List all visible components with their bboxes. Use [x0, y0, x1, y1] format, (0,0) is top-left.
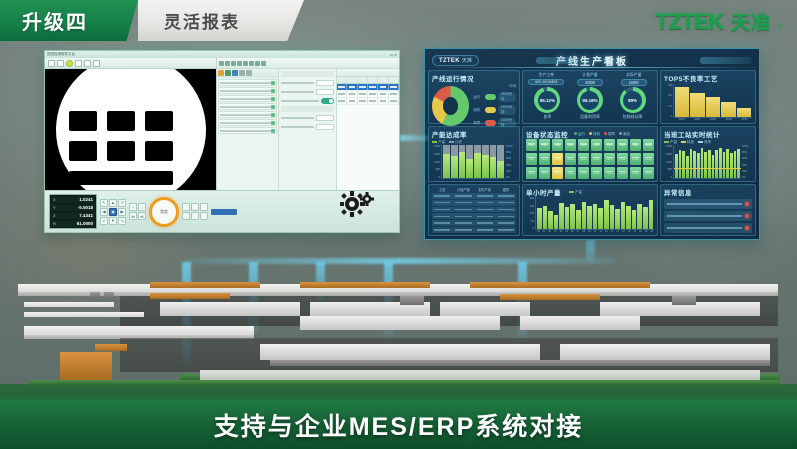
- equipment-label: OP21: [529, 173, 535, 175]
- gauge-ring: 95.18%: [577, 87, 603, 113]
- bar: [576, 210, 581, 229]
- equipment-cell[interactable]: OP24: [565, 167, 576, 179]
- equipment-label: OP23: [555, 173, 561, 175]
- data-link-beam: [400, 135, 428, 141]
- part-hole-2: [107, 111, 135, 131]
- detail-table-header: 工站 计划产量 实际产量 差异: [432, 187, 516, 192]
- alert-text-bar: [667, 203, 742, 205]
- kpi-value: 1800: [621, 79, 647, 86]
- equipment-label: OP12: [542, 159, 548, 161]
- legend-item: 离线: [619, 132, 630, 137]
- table-row[interactable]: [432, 200, 516, 206]
- equipment-label: OP17: [607, 159, 613, 161]
- bar-stack: [459, 145, 466, 178]
- y-axis: 200150100500: [526, 197, 535, 230]
- equipment-cell[interactable]: OP18: [617, 153, 628, 165]
- equipment-cell[interactable]: OP30: [643, 167, 654, 179]
- list-item[interactable]: [218, 103, 277, 110]
- x-tick: 14: [615, 230, 620, 233]
- card-title: 产线运行情况: [432, 73, 516, 83]
- legend-value: 1620分钟: [498, 105, 516, 115]
- bar-stack: [443, 145, 450, 178]
- equipment-cell[interactable]: OP21: [526, 167, 537, 179]
- jog-left-icon[interactable]: ◀: [100, 208, 108, 216]
- machine-mid-1: [300, 316, 500, 330]
- paste-tool-icon[interactable]: [232, 70, 238, 76]
- bar-stack: [497, 145, 504, 178]
- equipment-label: OP9: [633, 145, 637, 147]
- jog-down-right-icon[interactable]: ↘: [118, 217, 126, 225]
- property-field[interactable]: [281, 79, 334, 86]
- top5-plot: [673, 84, 752, 118]
- coordinate-row: R 61.0000: [51, 220, 95, 227]
- delete-icon[interactable]: [255, 61, 260, 66]
- bar: [708, 150, 711, 178]
- equipment-label: OP1: [530, 145, 534, 147]
- kpi-ring-utilization: 95.18% 设备利用率: [577, 87, 603, 120]
- feature-marker-1: [63, 103, 70, 110]
- kpi-value: 2000: [577, 79, 603, 86]
- gear-icon: [340, 190, 374, 218]
- tool-list-panel[interactable]: [217, 69, 279, 190]
- x-tick: OP30: [706, 118, 721, 121]
- dashboard-header: TZTEK 天准 产线生产看板: [428, 52, 756, 68]
- x-tick: 12: [604, 230, 609, 233]
- machine-upper-3: [440, 302, 530, 316]
- machine-upper-1: [160, 302, 300, 316]
- pan-tool-icon[interactable]: [75, 60, 82, 67]
- hourly-legend: 产量: [569, 190, 582, 195]
- legend-name: 待机: [473, 108, 483, 113]
- add-tool-icon[interactable]: [218, 70, 224, 76]
- dashboard-logo-cn: 天准: [462, 57, 472, 64]
- equipment-label: OP3: [555, 145, 559, 147]
- card-station-stats[interactable]: 当班工站实时统计 产量 标准 良率 2,000150010005000 100%…: [660, 126, 756, 182]
- equipment-cell[interactable]: OP23: [552, 167, 563, 179]
- baseline-marker: [674, 168, 741, 169]
- equipment-cell[interactable]: OP13: [552, 153, 563, 165]
- tools-pane: [217, 58, 399, 190]
- equipment-cell[interactable]: OP20: [643, 153, 654, 165]
- equipment-cell[interactable]: OP25: [578, 167, 589, 179]
- card-hourly-output[interactable]: 单小时产量 产量 200150100500 000102030405060708…: [522, 184, 658, 236]
- office-unit-1: [90, 292, 100, 298]
- property-field[interactable]: [281, 123, 334, 130]
- bar: [565, 207, 570, 229]
- image-toolbar[interactable]: [45, 58, 216, 69]
- column-header: 计划产量: [453, 187, 473, 192]
- jog-pad[interactable]: ↖ ▲ ↗ ◀ ◉ ▶ ↙ ▼ ↘: [100, 199, 126, 225]
- bar: [693, 151, 696, 178]
- alert-text-bar: [667, 215, 742, 217]
- hourly-plot: [535, 197, 654, 230]
- bar: [675, 87, 689, 117]
- equipment-cell[interactable]: OP29: [630, 167, 641, 179]
- jog-home-icon[interactable]: ◉: [109, 208, 117, 216]
- part-hole-5: [107, 141, 135, 161]
- run-icon[interactable]: [237, 61, 242, 66]
- coordinate-row: Z 7.4341: [51, 212, 95, 219]
- tools-main: [217, 69, 399, 190]
- equipment-cell[interactable]: OP19: [630, 153, 641, 165]
- control-panel-upper: [400, 296, 424, 305]
- bar: [548, 211, 553, 229]
- preset-pad[interactable]: [182, 203, 208, 220]
- equipment-cell[interactable]: OP22: [539, 167, 550, 179]
- results-toolbar[interactable]: [337, 69, 399, 77]
- list-item[interactable]: [664, 211, 752, 221]
- feature-marker-3: [173, 103, 180, 110]
- equipment-cell[interactable]: OP3: [552, 139, 563, 151]
- table-row[interactable]: [337, 84, 399, 91]
- preset-3-icon[interactable]: [200, 203, 208, 211]
- equipment-label: OP19: [633, 159, 639, 161]
- column-header: [347, 77, 357, 83]
- z-up-icon[interactable]: ↑: [129, 203, 137, 211]
- equipment-label: OP8: [620, 145, 624, 147]
- up-icon[interactable]: [239, 70, 245, 76]
- copy-tool-icon[interactable]: [225, 70, 231, 76]
- dashboard-row-1: 产线运行情况 运行中 时间 运行 1820分钟 待机: [428, 70, 756, 124]
- bar: [643, 207, 648, 229]
- office-slab-2: [24, 302, 114, 307]
- bar: [593, 204, 598, 229]
- column-header: [337, 77, 347, 83]
- table-row[interactable]: [432, 207, 516, 213]
- card-title: 产能达成率: [432, 129, 516, 139]
- crate-row-top-5: [500, 294, 600, 300]
- x-tick: 19: [644, 230, 649, 233]
- bar: [706, 97, 720, 117]
- z-down-icon[interactable]: ↓: [138, 203, 146, 211]
- x-tick: 11: [598, 230, 603, 233]
- axis-label: X: [53, 197, 61, 202]
- x-tick: 07: [576, 230, 581, 233]
- speed-slow-icon[interactable]: ≪: [138, 212, 146, 220]
- conveyor-mid: [270, 360, 770, 366]
- tool-list-rows: [217, 78, 278, 190]
- tool-properties-panel[interactable]: [279, 69, 337, 190]
- bar: [604, 200, 609, 229]
- equipment-cell[interactable]: OP8: [617, 139, 628, 151]
- axis-value: 7.4341: [61, 213, 93, 218]
- card-title: 单小时产量: [526, 187, 561, 197]
- equipment-cell[interactable]: OP1: [526, 139, 537, 151]
- equipment-cell[interactable]: OP2: [539, 139, 550, 151]
- card-detail-table[interactable]: 工站 计划产量 实际产量 差异: [428, 184, 520, 236]
- detail-table-rows: [432, 193, 516, 233]
- production-dashboard[interactable]: TZTEK 天准 产线生产看板 产线运行情况 运行中 时间 运行: [424, 48, 760, 240]
- x-tick: 03: [553, 230, 558, 233]
- equipment-label: OP6: [594, 145, 598, 147]
- x-tick: 05: [564, 230, 569, 233]
- bar: [632, 210, 637, 229]
- equipment-cell[interactable]: OP5: [578, 139, 589, 151]
- column-header: 差异: [496, 187, 516, 192]
- zoom-out-icon[interactable]: [57, 60, 64, 67]
- column-header: 工站: [432, 187, 452, 192]
- gauge-value: 95.18%: [582, 98, 597, 103]
- jog-up-icon[interactable]: ▲: [109, 199, 117, 207]
- crosshair-icon[interactable]: [93, 60, 100, 67]
- dashboard-row-3: 工站 计划产量 实际产量 差异 单小时产量: [428, 184, 756, 236]
- bar: [637, 204, 642, 229]
- equipment-cell[interactable]: OP17: [604, 153, 615, 165]
- bar: [690, 93, 704, 117]
- bar: [737, 149, 740, 178]
- equipment-label: OP26: [594, 173, 600, 175]
- dashboard-row-2: 产能达成率 产量 计划 2,000150010005000: [428, 126, 756, 182]
- legend-item: 运行: [574, 132, 585, 137]
- equipment-label: OP4: [568, 145, 572, 147]
- bar: [690, 149, 693, 178]
- x-tick: 06: [570, 230, 575, 233]
- inspection-image-canvas[interactable]: [45, 69, 216, 190]
- equipment-label: OP2: [542, 145, 546, 147]
- capacity-chart: 2,000150010005000 100%80%60%40%20%0%: [432, 145, 516, 179]
- legend-item: 产量: [569, 190, 582, 195]
- banner-tag-label: 升级四: [22, 6, 88, 35]
- donut-legend: 时间 运行 1820分钟 待机 1620分钟 故障: [473, 84, 516, 128]
- equipment-cell[interactable]: OP15: [578, 153, 589, 165]
- list-item[interactable]: [664, 199, 752, 209]
- open-icon[interactable]: [225, 61, 230, 66]
- bar: [587, 206, 592, 229]
- jog-down-left-icon[interactable]: ↙: [100, 217, 108, 225]
- legend-name: 故障: [473, 121, 483, 126]
- card-top5-defect[interactable]: TOP5不良率工艺 5%3%1%0 OP10 OP20 OP30 OP4: [660, 70, 756, 124]
- equipment-cell[interactable]: OP6: [591, 139, 602, 151]
- equipment-cell[interactable]: OP7: [604, 139, 615, 151]
- equipment-cell[interactable]: OP28: [617, 167, 628, 179]
- legend-item: 待机 1620分钟: [473, 105, 516, 115]
- new-icon[interactable]: [219, 61, 224, 66]
- tools-toolbar[interactable]: [217, 58, 399, 69]
- list-item[interactable]: [218, 111, 277, 118]
- axis-value: 61.0000: [61, 221, 93, 226]
- crate-row-top-1: [150, 282, 260, 288]
- gauge-label: 良率: [543, 114, 551, 120]
- results-table-panel[interactable]: [337, 69, 399, 190]
- bar: [715, 150, 718, 178]
- bar: [697, 153, 700, 178]
- x-tick: 15: [621, 230, 626, 233]
- legend-label: 产量: [575, 190, 582, 194]
- equipment-header: 设备状态监控 运行 待机 故障 离线: [526, 129, 654, 139]
- measure-tool-icon[interactable]: [84, 60, 91, 67]
- crate-row-top-2: [300, 282, 430, 288]
- card-title: TOP5不良率工艺: [664, 73, 752, 83]
- x-tick: 02: [547, 230, 552, 233]
- equipment-cell[interactable]: OP27: [604, 167, 615, 179]
- table-row[interactable]: [337, 98, 399, 105]
- crate-stack-left: [95, 344, 127, 351]
- legend-label: 良率: [704, 140, 711, 144]
- equipment-cell[interactable]: OP4: [565, 139, 576, 151]
- card-equipment-status[interactable]: 设备状态监控 运行 待机 故障 离线 OP1OP2OP3OP4OP5OP6OP7…: [522, 126, 658, 182]
- card-title: 设备状态监控: [526, 129, 568, 139]
- list-item[interactable]: [664, 223, 752, 233]
- bar: [621, 202, 626, 229]
- equipment-cell[interactable]: OP26: [591, 167, 602, 179]
- card-line-status[interactable]: 产线运行情况 运行中 时间 运行 1820分钟 待机: [428, 70, 520, 124]
- part-hole-6: [145, 141, 173, 161]
- preset-4-icon[interactable]: [182, 212, 190, 220]
- legend-name: 运行: [473, 95, 483, 100]
- kpi-top-row: 生产工单 WO-20240815 计划产量 2000 实际产量 1800: [526, 73, 654, 86]
- header-chip-left: [536, 57, 578, 64]
- property-toggle[interactable]: [281, 97, 334, 104]
- gauge-ring: 89%: [620, 87, 646, 113]
- legend-swatch: [485, 107, 496, 113]
- tool-list-toolbar[interactable]: [217, 69, 278, 78]
- bar: [679, 150, 682, 178]
- x-tick: 08: [581, 230, 586, 233]
- window-controls[interactable]: ▭ ✕: [390, 53, 397, 57]
- equipment-cell[interactable]: OP10: [643, 139, 654, 151]
- bar-stack: [451, 145, 458, 178]
- axis-value: 1.0241: [61, 197, 93, 202]
- crate-row-top-4: [150, 293, 230, 299]
- table-row[interactable]: [432, 193, 516, 199]
- legend-item: 故障: [604, 132, 615, 137]
- bar: [626, 206, 631, 229]
- jog-up-left-icon[interactable]: ↖: [100, 199, 108, 207]
- equipment-label: OP14: [568, 159, 574, 161]
- kpi-order: 生产工单 WO-20240815: [526, 73, 567, 86]
- axis-label: Y: [53, 205, 61, 210]
- select-tool-icon[interactable]: [66, 60, 73, 67]
- speed-fast-icon[interactable]: ≫: [129, 212, 137, 220]
- banner-tag: 升级四: [0, 0, 118, 41]
- table-row[interactable]: [337, 91, 399, 98]
- jog-down-icon[interactable]: ▼: [109, 217, 117, 225]
- rotation-knob[interactable]: 角度: [149, 197, 179, 227]
- list-item[interactable]: [218, 79, 277, 86]
- brand-logo-en: TZTEK: [655, 9, 723, 35]
- card-title: 异常信息: [664, 187, 752, 197]
- coordinate-readout: X 1.0241 Y -5.5018 Z 7.4341 R 61.0000: [49, 194, 97, 229]
- machine-row-2-2: [560, 344, 770, 360]
- card-title: 当班工站实时统计: [664, 129, 752, 139]
- list-item[interactable]: [218, 127, 277, 134]
- equipment-cell[interactable]: OP16: [591, 153, 602, 165]
- office-unit-2: [104, 292, 114, 298]
- x-tick: 10: [593, 230, 598, 233]
- kpi-value: WO-20240815: [528, 79, 564, 85]
- preset-6-icon[interactable]: [200, 212, 208, 220]
- property-field[interactable]: [281, 88, 334, 95]
- gauge-label: 设备利用率: [580, 114, 600, 120]
- zoom-in-icon[interactable]: [48, 60, 55, 67]
- table-empty-area: [337, 105, 399, 190]
- preset-5-icon[interactable]: [191, 212, 199, 220]
- list-item[interactable]: [218, 119, 277, 126]
- y-axis-left: 2,000150010005000: [432, 145, 441, 179]
- enable-toggle[interactable]: [321, 98, 334, 104]
- bar: [675, 154, 678, 178]
- office-slab-1: [24, 312, 144, 317]
- equipment-cell[interactable]: OP14: [565, 153, 576, 165]
- x-tick: 17: [632, 230, 637, 233]
- down-icon[interactable]: [246, 70, 252, 76]
- bar: [615, 209, 620, 229]
- export-icon[interactable]: [261, 61, 266, 66]
- card-alerts[interactable]: 异常信息: [660, 184, 756, 236]
- equipment-label: OP29: [633, 173, 639, 175]
- y-axis-right: 100%80%60%40%20%0%: [741, 145, 752, 179]
- pallet-stack: [60, 352, 112, 380]
- axis-control-pad[interactable]: ↑ ↓ ≫ ≪: [129, 203, 146, 220]
- jog-up-right-icon[interactable]: ↗: [118, 199, 126, 207]
- table-row[interactable]: [432, 220, 516, 226]
- card-kpi[interactable]: 生产工单 WO-20240815 计划产量 2000 实际产量 1800: [522, 70, 658, 124]
- bar-stack: [490, 145, 497, 178]
- part-hole-3: [145, 111, 173, 131]
- x-tick: 13: [610, 230, 615, 233]
- kpi-ring-packaging: 89% 包装线动率: [620, 87, 646, 120]
- bar: [723, 152, 726, 178]
- caption-band: 支持与企业MES/ERP系统对接: [0, 401, 797, 449]
- preset-1-icon[interactable]: [182, 203, 190, 211]
- coordinate-row: X 1.0241: [51, 196, 95, 203]
- list-item[interactable]: [218, 95, 277, 102]
- settings-icon[interactable]: [249, 61, 254, 66]
- list-item[interactable]: [218, 87, 277, 94]
- equipment-label: OP13: [555, 159, 561, 161]
- properties-subheader: [281, 106, 334, 112]
- legend-swatch: [485, 94, 496, 100]
- kpi-actual: 实际产量 1800: [613, 73, 654, 86]
- hourly-chart: 200150100500: [526, 197, 654, 230]
- table-row[interactable]: [432, 213, 516, 219]
- software-titlebar: 视觉检测软件平台 ▭ ✕: [45, 51, 399, 58]
- bar: [598, 208, 603, 229]
- property-field[interactable]: [281, 114, 334, 121]
- bar: [570, 204, 575, 229]
- card-capacity[interactable]: 产能达成率 产量 计划 2,000150010005000: [428, 126, 520, 182]
- kpi-label: 计划产量: [582, 73, 597, 78]
- equipment-label: OP10: [645, 145, 651, 147]
- column-header: [358, 77, 368, 83]
- y-axis: 5%3%1%0: [664, 84, 673, 118]
- bar: [554, 215, 559, 229]
- save-icon[interactable]: [231, 61, 236, 66]
- equipment-label: OP20: [645, 159, 651, 161]
- donut-center-label: 运行中: [432, 86, 469, 126]
- equipment-status-grid[interactable]: OP1OP2OP3OP4OP5OP6OP7OP8OP9OP10OP11OP12O…: [526, 139, 654, 179]
- header-chip-right: [700, 57, 752, 64]
- bar: [559, 203, 564, 229]
- equipment-cell[interactable]: OP12: [539, 153, 550, 165]
- equipment-cell[interactable]: OP9: [630, 139, 641, 151]
- bar: [712, 155, 715, 178]
- equipment-cell[interactable]: OP11: [526, 153, 537, 165]
- legend-item: 待机: [589, 132, 600, 137]
- stop-icon[interactable]: [243, 61, 248, 66]
- alert-status-icon: [745, 202, 749, 206]
- legend-label: 标准: [687, 140, 694, 144]
- x-tick: 09: [587, 230, 592, 233]
- preset-2-icon[interactable]: [191, 203, 199, 211]
- crate-row-top-3: [470, 282, 650, 288]
- table-row[interactable]: [432, 227, 516, 233]
- axis-label: Z: [53, 213, 61, 218]
- alert-text-bar: [667, 227, 742, 229]
- bar: [721, 102, 735, 117]
- bar: [704, 152, 707, 178]
- jog-right-icon[interactable]: ▶: [118, 208, 126, 216]
